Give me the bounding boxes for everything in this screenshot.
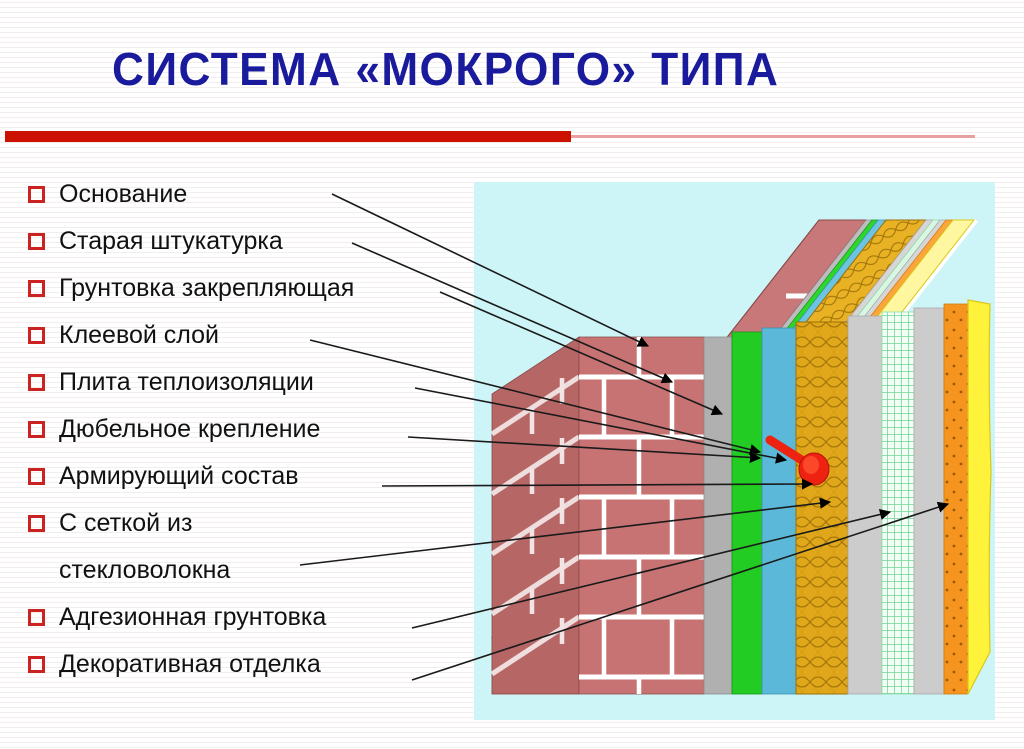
layer-glue bbox=[762, 328, 796, 694]
list-item[interactable]: Дюбельное крепление bbox=[28, 413, 458, 460]
layer-stack-front bbox=[704, 304, 968, 694]
legend-label: Плита теплоизоляции bbox=[59, 366, 314, 398]
list-item[interactable]: С сеткой из bbox=[28, 507, 458, 554]
bullet-square-icon bbox=[28, 656, 45, 673]
legend-list: Основание Старая штукатурка Грунтовка за… bbox=[28, 178, 458, 695]
layer-mesh bbox=[882, 312, 914, 694]
bullet-square-icon bbox=[28, 233, 45, 250]
list-item[interactable]: Клеевой слой bbox=[28, 319, 458, 366]
layer-fixing-primer bbox=[732, 332, 762, 694]
bullet-square-icon bbox=[28, 327, 45, 344]
list-item[interactable]: Основание bbox=[28, 178, 458, 225]
slide-background: СИСТЕМА «МОКРОГО» ТИПА Основание Старая … bbox=[0, 0, 1024, 749]
legend-label: Армирующий состав bbox=[59, 460, 299, 492]
layer-reinforcing-2 bbox=[914, 308, 944, 694]
bullet-square-icon bbox=[28, 280, 45, 297]
layer-adhesion-primer bbox=[944, 304, 968, 694]
legend-label: Клеевой слой bbox=[59, 319, 219, 351]
divider-thin bbox=[571, 135, 975, 138]
bullet-spacer bbox=[28, 562, 45, 579]
bullet-square-icon bbox=[28, 374, 45, 391]
diagram-panel bbox=[474, 182, 995, 720]
divider-thick bbox=[5, 131, 571, 142]
legend-label: Декоративная отделка bbox=[59, 648, 321, 680]
list-item[interactable]: Декоративная отделка bbox=[28, 648, 458, 695]
list-item[interactable]: Старая штукатурка bbox=[28, 225, 458, 272]
list-item[interactable]: Адгезионная грунтовка bbox=[28, 601, 458, 648]
layer-brick-left-face bbox=[492, 337, 579, 694]
layer-decorative-finish bbox=[968, 300, 991, 694]
bullet-square-icon bbox=[28, 609, 45, 626]
list-item[interactable]: Армирующий состав bbox=[28, 460, 458, 507]
legend-label: С сеткой из bbox=[59, 507, 192, 539]
page-title: СИСТЕМА «МОКРОГО» ТИПА bbox=[112, 44, 779, 94]
bullet-square-icon bbox=[28, 186, 45, 203]
layer-insulation bbox=[796, 322, 848, 694]
layer-brick-front-face bbox=[579, 337, 704, 694]
bullet-square-icon bbox=[28, 468, 45, 485]
legend-label: Основание bbox=[59, 178, 187, 210]
layer-reinforcing-1 bbox=[848, 316, 882, 694]
legend-label: Старая штукатурка bbox=[59, 225, 283, 257]
layer-old-plaster bbox=[704, 337, 732, 694]
bullet-square-icon bbox=[28, 421, 45, 438]
list-item[interactable]: Плита теплоизоляции bbox=[28, 366, 458, 413]
wall-section-isometric bbox=[474, 182, 995, 720]
legend-label: Адгезионная грунтовка bbox=[59, 601, 326, 633]
legend-label: Грунтовка закрепляющая bbox=[59, 272, 354, 304]
list-item[interactable]: Грунтовка закрепляющая bbox=[28, 272, 458, 319]
list-item-continuation: стекловолокна bbox=[28, 554, 458, 601]
bullet-square-icon bbox=[28, 515, 45, 532]
legend-label: Дюбельное крепление bbox=[59, 413, 320, 445]
legend-label: стекловолокна bbox=[59, 554, 230, 586]
